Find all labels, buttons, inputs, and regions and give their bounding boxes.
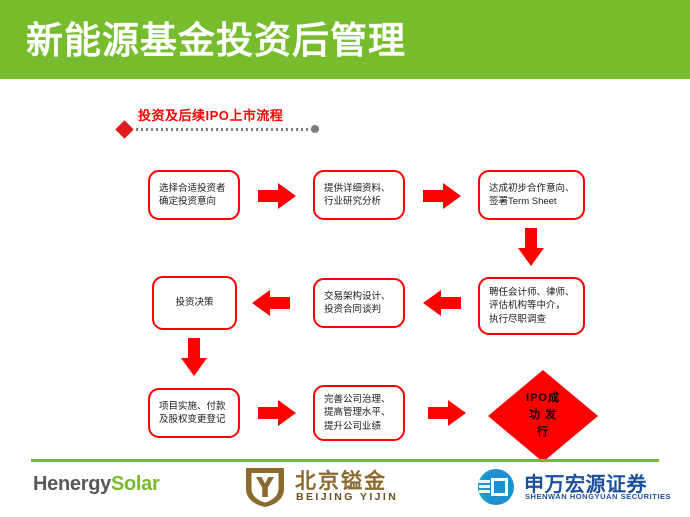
logo-shenwan-en: SHENWAN HONGYUAN SECURITIES	[525, 492, 671, 501]
flow-step-4-label: 投资决策	[154, 296, 235, 310]
diamond-bullet-icon	[115, 120, 133, 138]
logo-yijin-en: BEIJING YIJIN	[296, 491, 398, 503]
arrow-left-icon-2	[423, 290, 461, 316]
flow-step-1-label: 选择合适投资者 确定投资意向	[150, 182, 231, 209]
flow-step-4[interactable]: 投资决策	[152, 276, 237, 330]
flow-step-2-label: 提供详细资料、 行业研究分析	[315, 182, 396, 209]
logo-henergy-solar: HenergySolar	[33, 473, 159, 496]
flow-step-8[interactable]: 完善公司治理、 提高管理水平、 提升公司业绩	[313, 385, 405, 441]
footer-divider	[31, 459, 659, 462]
decorative-rule	[118, 121, 323, 138]
slide-title-bar: 新能源基金投资后管理	[0, 0, 690, 79]
flow-step-7-label: 项目实施、付款 及股权变更登记	[150, 400, 231, 427]
flow-goal-label: IPO成 功 发 行	[488, 390, 598, 441]
arrow-down-icon-right	[518, 228, 544, 266]
flow-step-3-label: 达成初步合作意向、 签署Term Sheet	[480, 182, 580, 209]
page-title: 新能源基金投资后管理	[26, 20, 406, 62]
arrow-right-icon-4	[428, 400, 466, 426]
arrow-right-icon-2	[423, 183, 461, 209]
logo-henergy-part2: Solar	[111, 473, 160, 495]
logo-henergy-part1: Henergy	[33, 473, 111, 495]
arrow-right-icon-3	[258, 400, 296, 426]
slide-canvas: 新能源基金投资后管理 投资及后续IPO上市流程 选择合适投资者 确定投资意向 提…	[0, 0, 690, 517]
logo-shenwan-hongyuan: 申万宏源证券 SHENWAN HONGYUAN SECURITIES	[476, 466, 686, 510]
arrow-right-icon-1	[258, 183, 296, 209]
arrow-down-icon-left	[181, 338, 207, 376]
flow-step-6-label: 聘任会计师、律师、 评估机构等中介， 执行尽职调查	[480, 286, 580, 327]
logo-beijing-yijin: 北京镒金 BEIJING YIJIN	[243, 463, 458, 511]
flow-step-5-label: 交易架构设计、 投资合同谈判	[315, 290, 396, 317]
arrow-left-icon-1	[252, 290, 290, 316]
flow-step-8-label: 完善公司治理、 提高管理水平、 提升公司业绩	[315, 393, 396, 434]
dot-end-icon	[311, 125, 319, 133]
flow-step-2[interactable]: 提供详细资料、 行业研究分析	[313, 170, 405, 220]
flow-step-6[interactable]: 聘任会计师、律师、 评估机构等中介， 执行尽职调查	[478, 277, 585, 335]
flow-step-3[interactable]: 达成初步合作意向、 签署Term Sheet	[478, 170, 585, 220]
flow-step-7[interactable]: 项目实施、付款 及股权变更登记	[148, 388, 240, 438]
dotted-line	[136, 128, 312, 131]
flow-step-1[interactable]: 选择合适投资者 确定投资意向	[148, 170, 240, 220]
flow-step-5[interactable]: 交易架构设计、 投资合同谈判	[313, 278, 405, 328]
flow-goal-diamond[interactable]: IPO成 功 发 行	[488, 370, 598, 462]
shenwan-circle-icon	[476, 467, 516, 507]
shield-icon	[243, 465, 287, 509]
